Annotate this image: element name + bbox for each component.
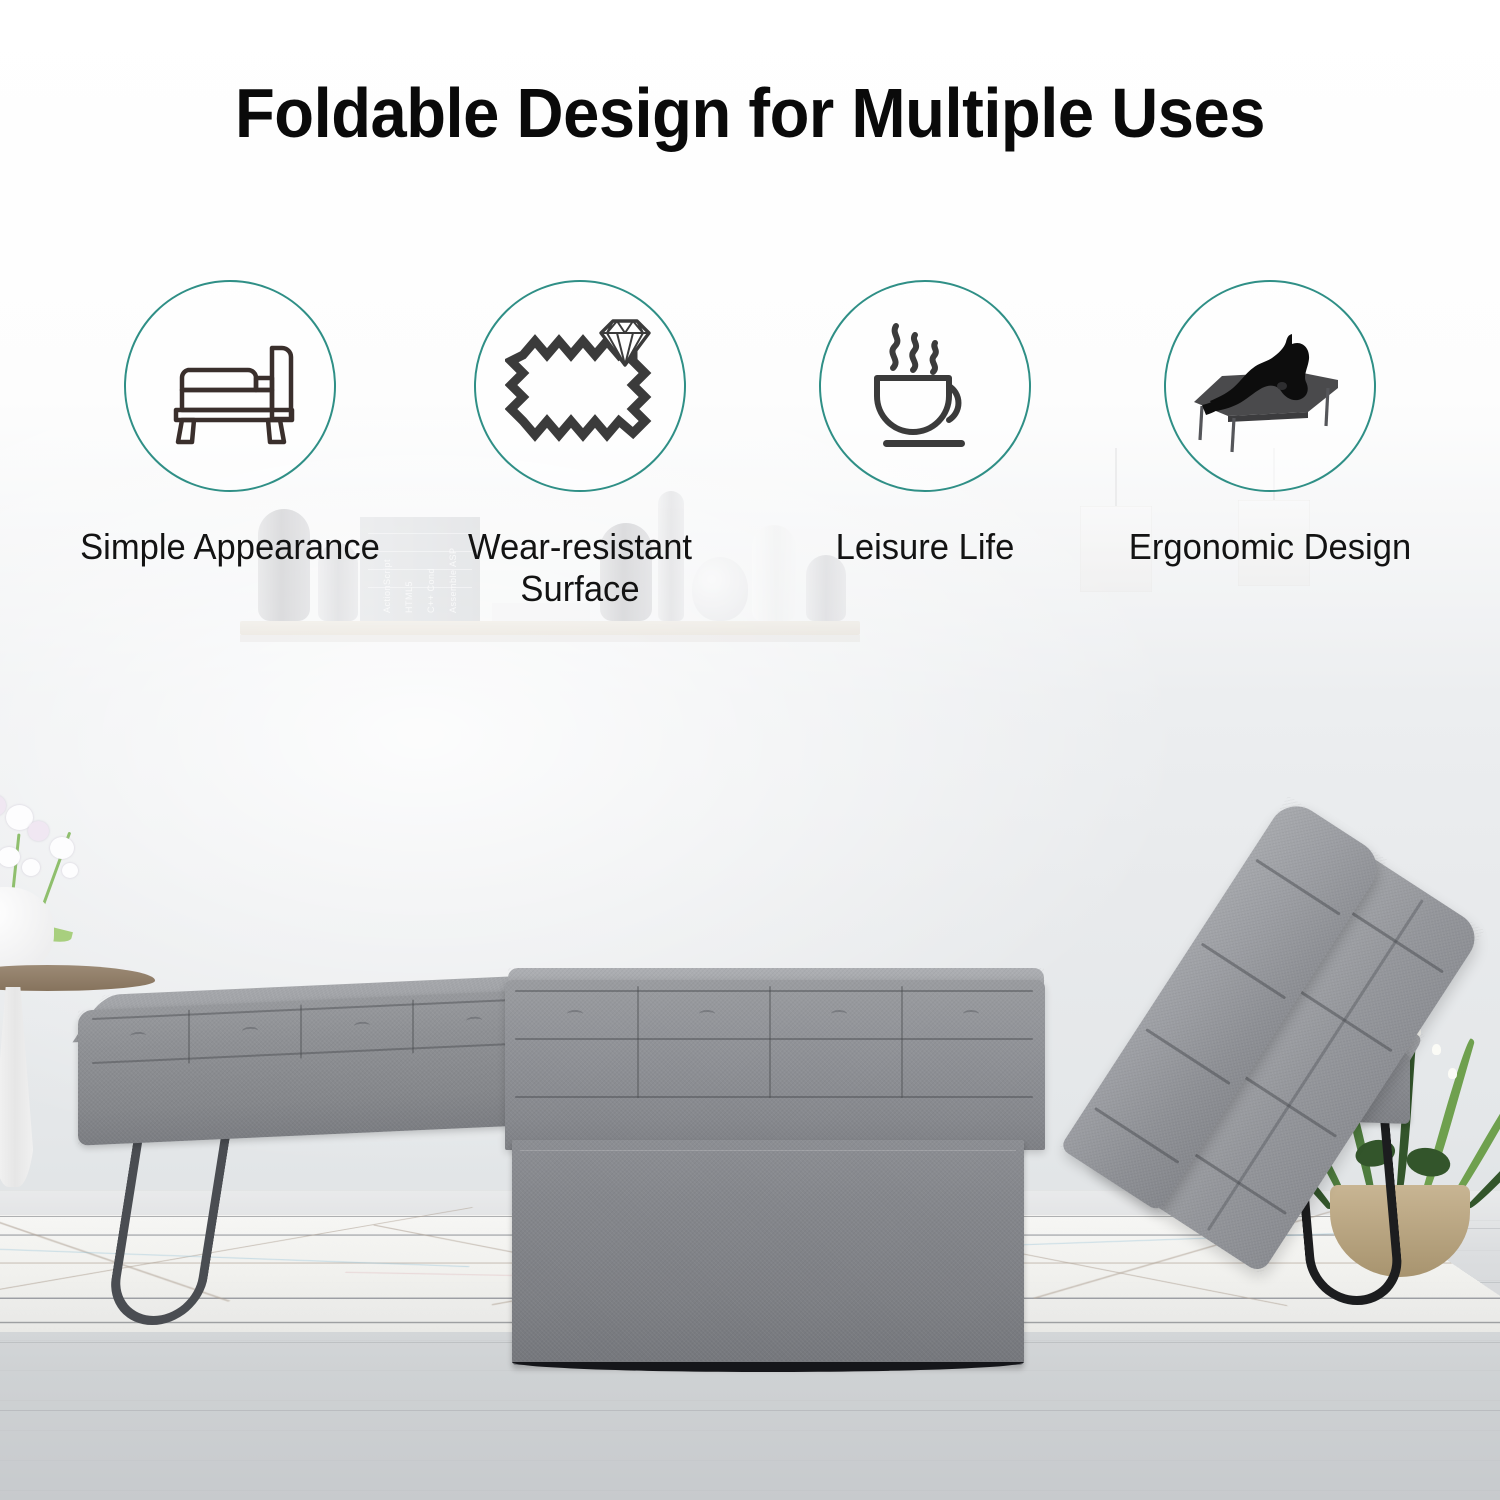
product-feature-graphic: ActionScript HTML5 C++ Cond Assemble ASP [0, 0, 1500, 1500]
feature-leisure-life[interactable]: Leisure Life [760, 280, 1090, 568]
feature-wear-resistant-surface[interactable]: Wear-resistant Surface [415, 280, 745, 610]
feature-icon-circle [124, 280, 336, 492]
sofa-seat-center [505, 980, 1045, 1150]
bed-icon [160, 326, 300, 446]
page-title: Foldable Design for Multiple Uses [53, 78, 1448, 148]
feature-label: Wear-resistant Surface [422, 526, 739, 610]
feature-row: Simple Appearance [0, 280, 1500, 620]
person-reclining-lounger-icon [1188, 316, 1353, 456]
feature-simple-appearance[interactable]: Simple Appearance [65, 280, 395, 568]
feature-ergonomic-design[interactable]: Ergonomic Design [1105, 280, 1435, 568]
feature-icon-circle [819, 280, 1031, 492]
feature-icon-circle [1164, 280, 1376, 492]
feature-label: Ergonomic Design [1112, 526, 1429, 568]
feature-label: Leisure Life [767, 526, 1084, 568]
convertible-sofa-bed [0, 0, 1500, 1500]
sofa-seat-left [78, 989, 548, 1145]
fabric-swatch-diamond-icon [505, 311, 655, 461]
sofa-fabric-skirt [512, 1140, 1024, 1365]
sofa-leg-left [104, 1125, 232, 1325]
coffee-cup-icon [855, 316, 995, 456]
feature-label: Simple Appearance [72, 526, 389, 568]
feature-icon-circle [474, 280, 686, 492]
